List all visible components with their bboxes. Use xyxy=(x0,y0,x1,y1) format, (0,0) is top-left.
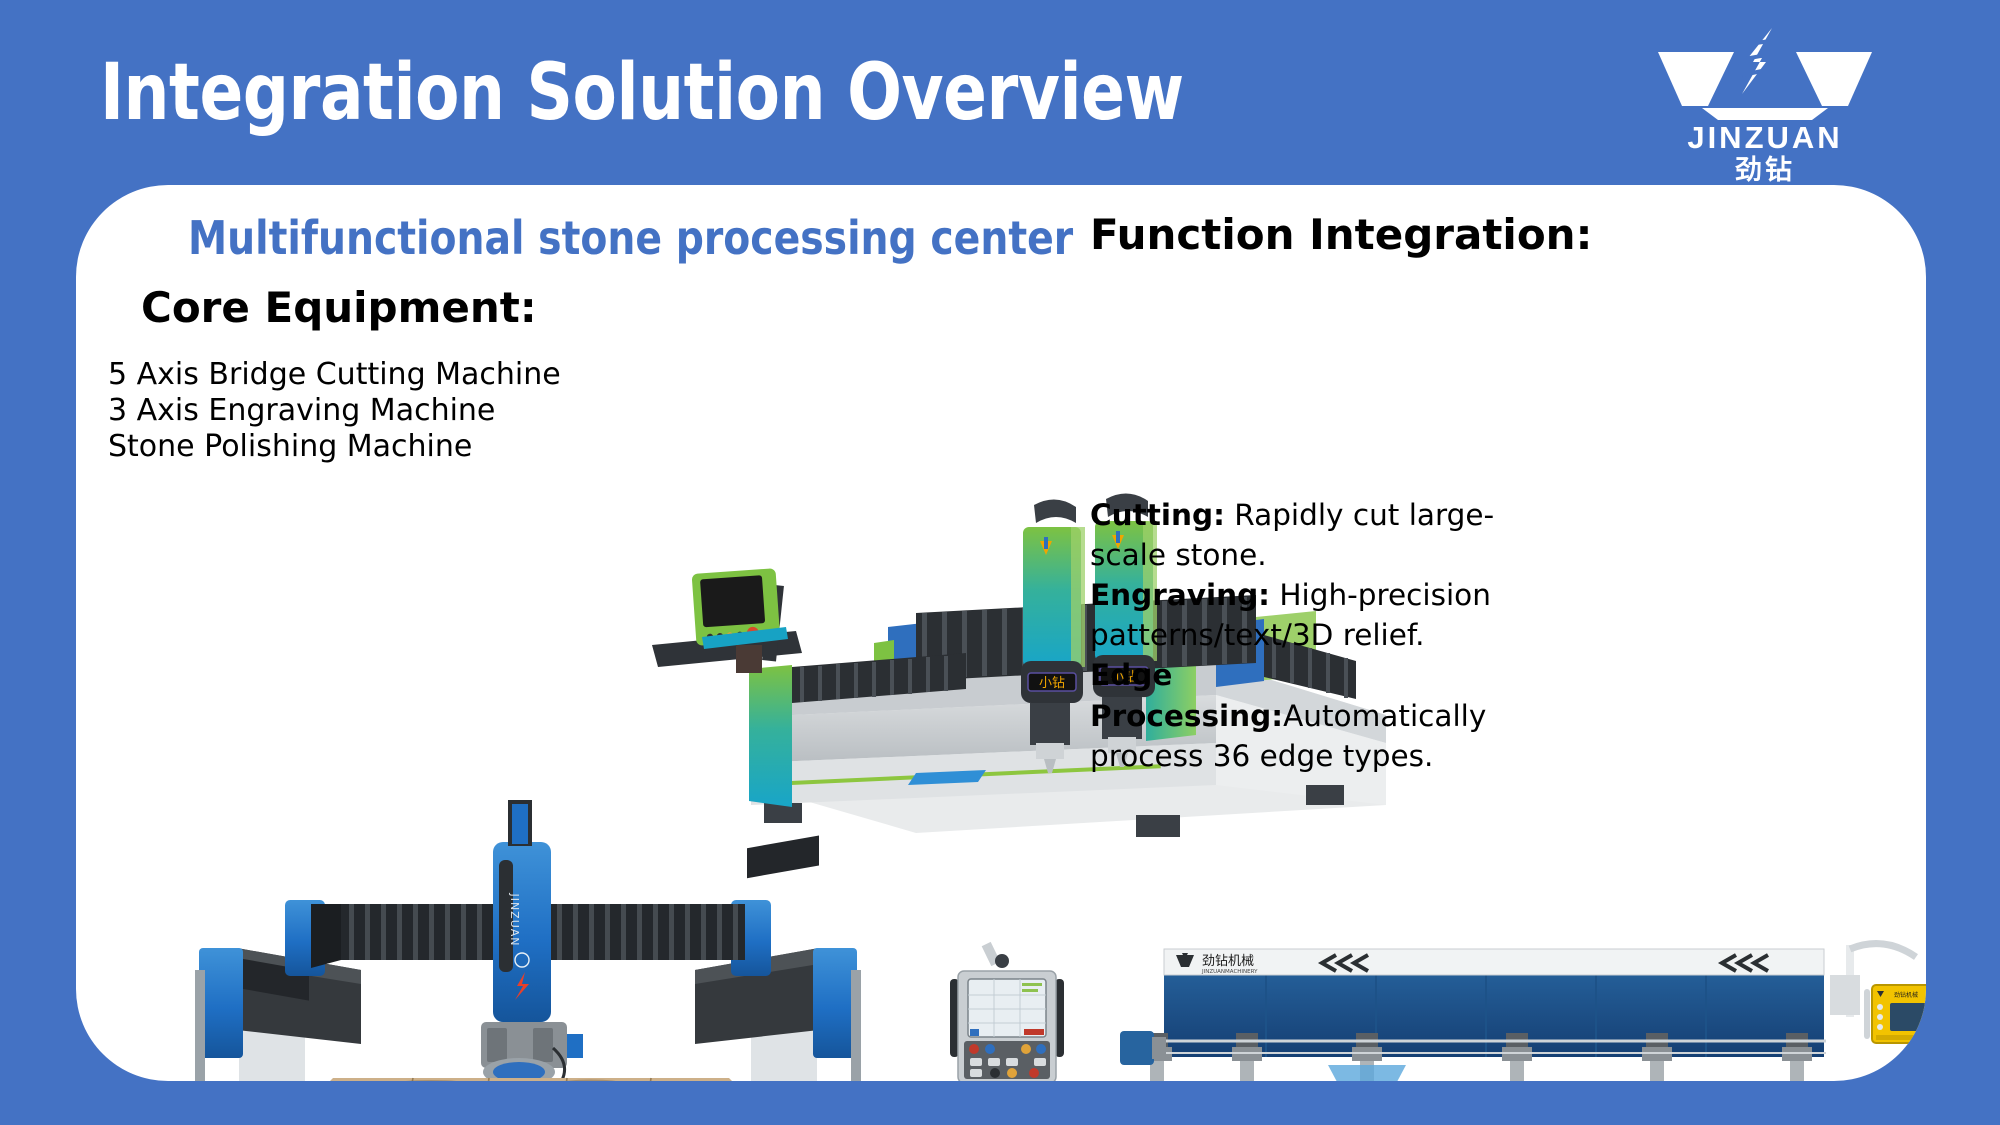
function-integration-list: Cutting: Rapidly cut large-scale stone. … xyxy=(1090,495,1570,776)
svg-text:JINZUAN: JINZUAN xyxy=(508,892,521,946)
list-item: Stone Polishing Machine xyxy=(108,429,561,465)
bridge-cutting-machine-image: JINZUAN xyxy=(181,800,881,1081)
core-equipment-list: 5 Axis Bridge Cutting Machine 3 Axis Eng… xyxy=(108,357,561,465)
list-item: 3 Axis Engraving Machine xyxy=(108,393,561,429)
svg-text:劲钻机械: 劲钻机械 xyxy=(1894,991,1918,999)
yellow-control-panel: 劲钻机械 xyxy=(1864,985,1926,1043)
function-label: Cutting: xyxy=(1090,498,1225,532)
svg-text:小钻: 小钻 xyxy=(1039,676,1065,691)
function-entry-cutting: Cutting: Rapidly cut large-scale stone. xyxy=(1090,495,1570,575)
list-item: 5 Axis Bridge Cutting Machine xyxy=(108,357,561,393)
polishing-machine-image: 劲钻机械 JINZUANMACHINERY xyxy=(1106,925,1926,1081)
page-title: Integration Solution Overview xyxy=(100,48,1184,138)
content-card: Multifunctional stone processing center … xyxy=(76,185,1926,1081)
jinzuan-logo: JINZUAN 劲钻 xyxy=(1650,28,1880,178)
core-equipment-heading: Core Equipment: xyxy=(141,283,537,332)
hmi-panel xyxy=(652,568,802,673)
logo-brand-en: JINZUAN xyxy=(1650,122,1880,153)
function-integration-heading: Function Integration: xyxy=(1090,210,1592,259)
polisher-brand-cn: 劲钻机械 xyxy=(1202,954,1254,969)
polisher-brand-en: JINZUANMACHINERY xyxy=(1201,969,1258,975)
slide-canvas: Integration Solution Overview JINZUAN 劲钻… xyxy=(0,0,2000,1125)
function-label: Engraving: xyxy=(1090,578,1270,612)
section-subtitle: Multifunctional stone processing center xyxy=(188,211,1073,265)
logo-brand-cn: 劲钻 xyxy=(1650,156,1880,186)
v-lightning-icon xyxy=(1650,28,1880,120)
function-label: Edge Processing: xyxy=(1090,658,1283,732)
function-entry-engraving: Engraving: High-precision patterns/text/… xyxy=(1090,575,1570,655)
function-entry-edge: Edge Processing:Automatically process 36… xyxy=(1090,655,1570,775)
control-pendant-image xyxy=(942,943,1072,1081)
